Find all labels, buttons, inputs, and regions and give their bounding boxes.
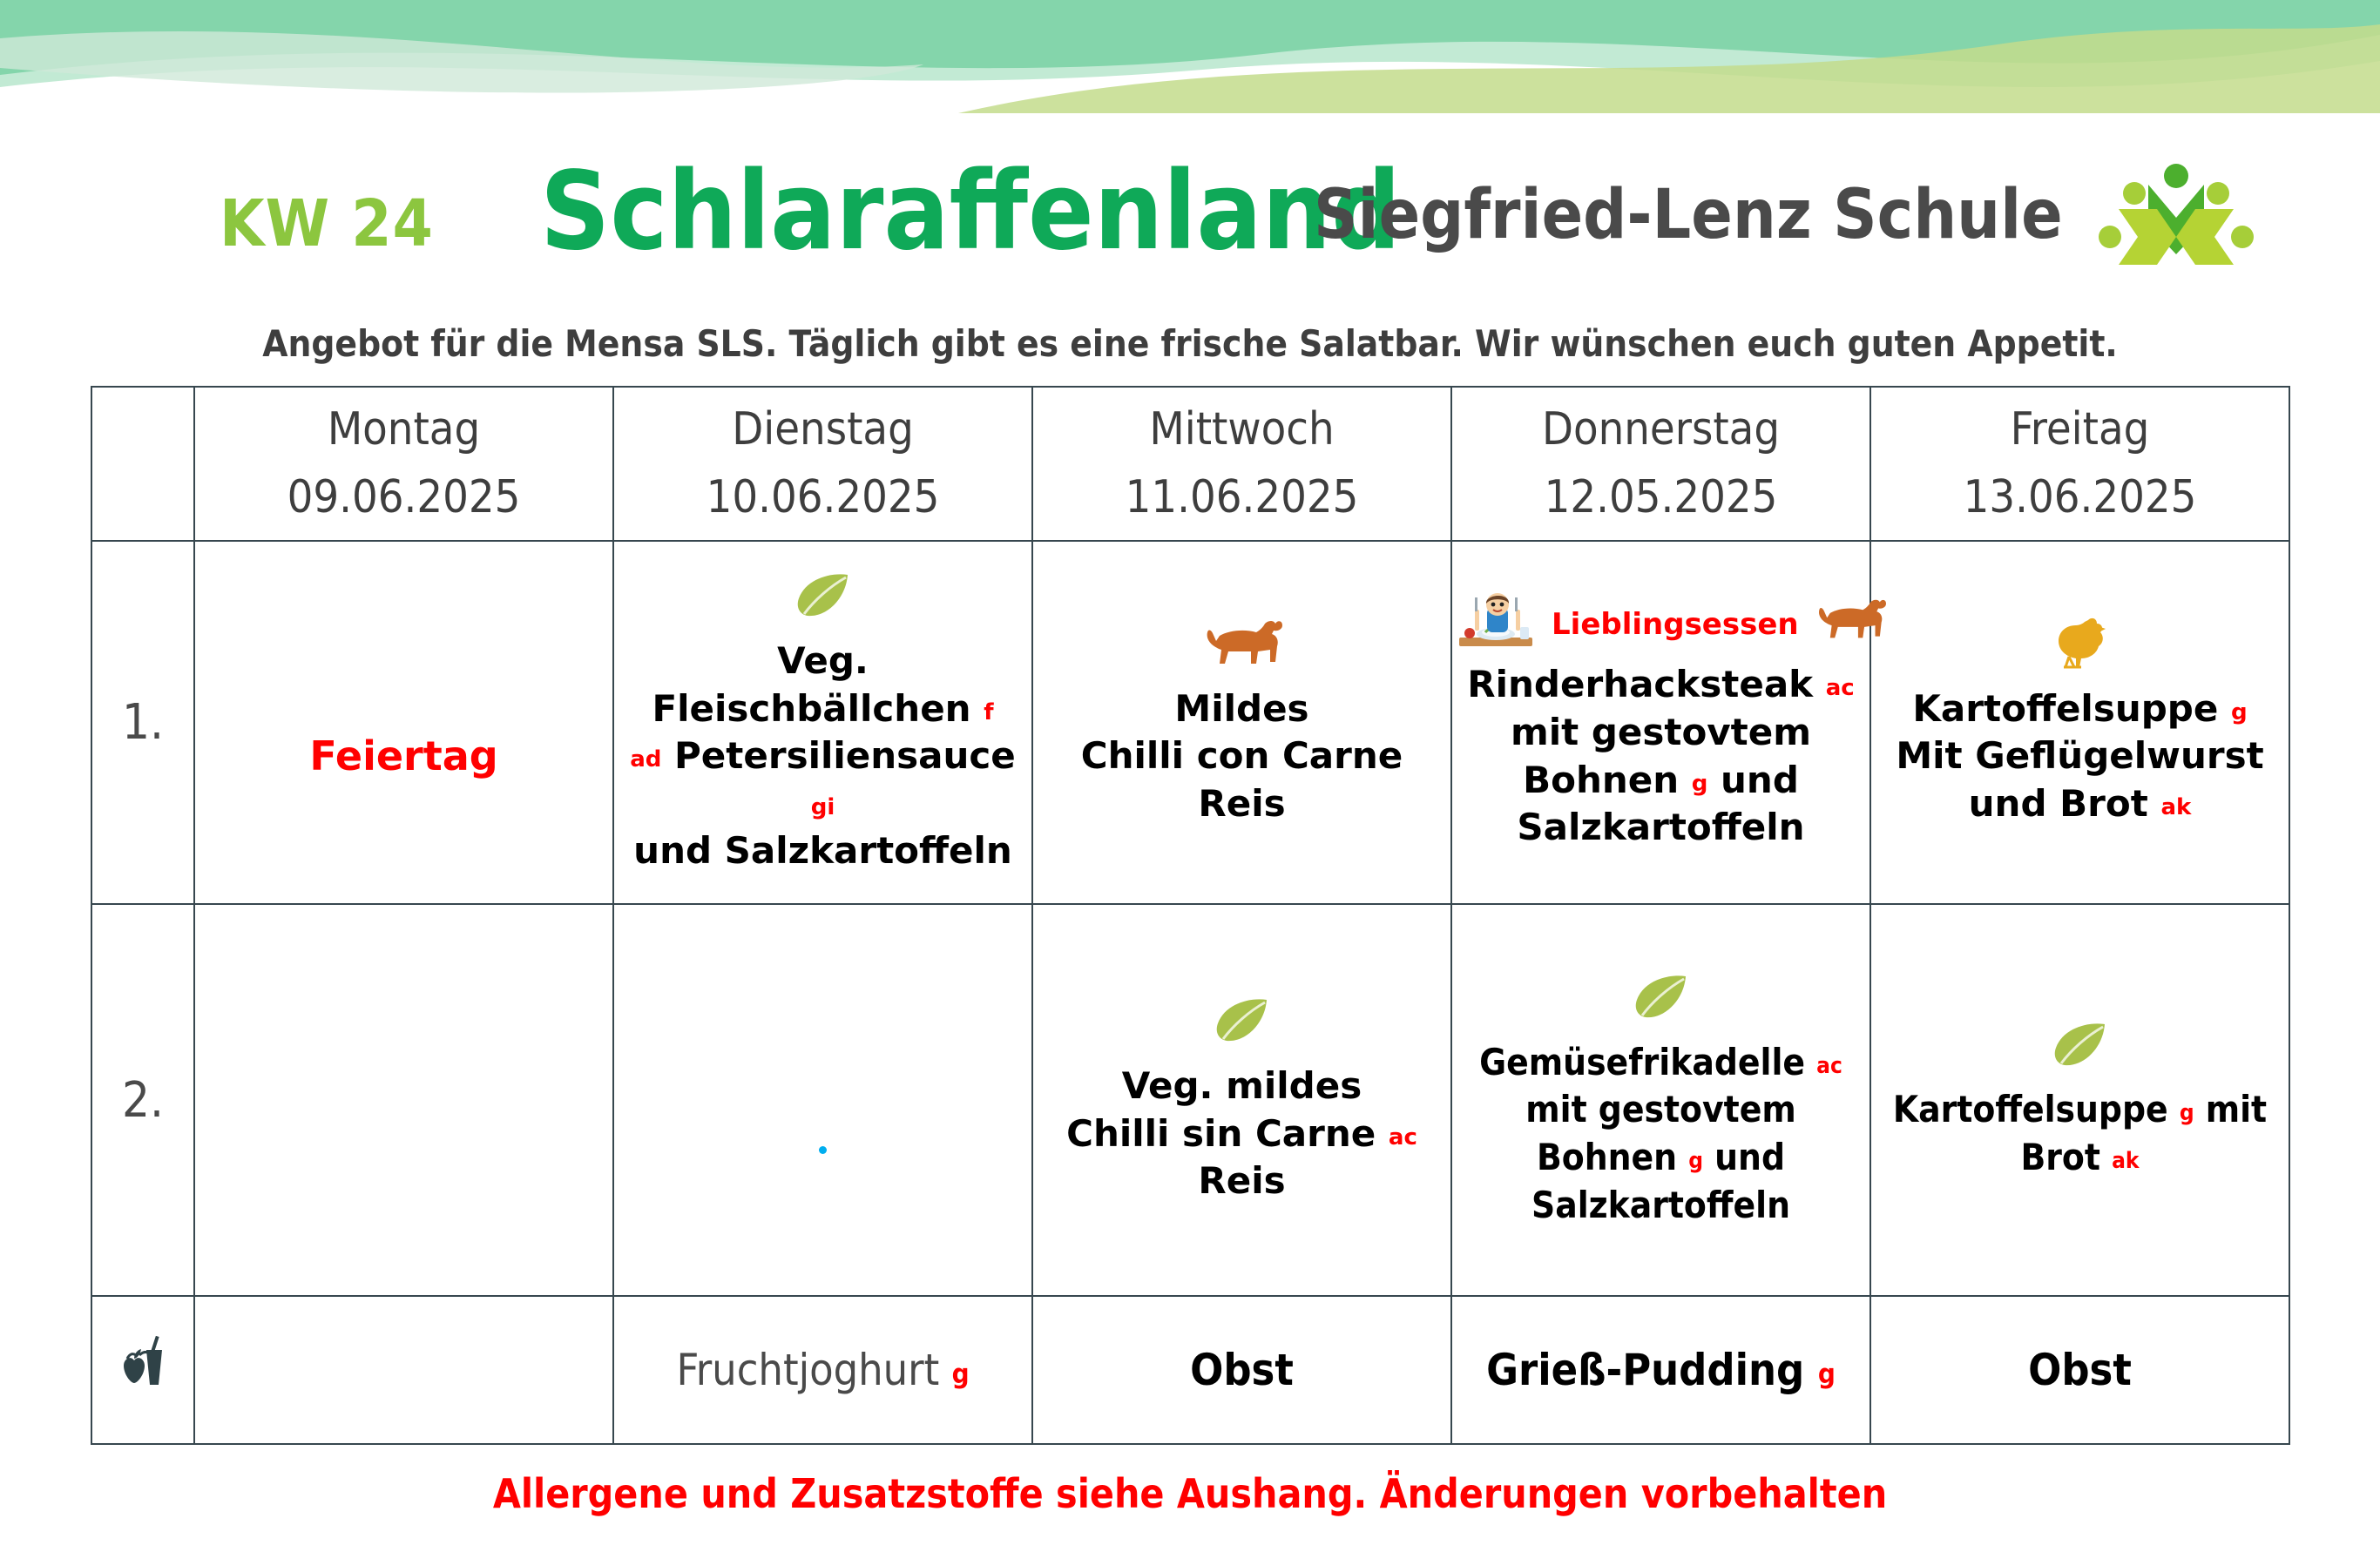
- allergen-code: f: [984, 699, 993, 725]
- dessert-cell-donnerstag: Grieß-Pudding g: [1451, 1296, 1870, 1444]
- meal-line: Gemüsefrikadelle ac: [1452, 1039, 1870, 1087]
- allergen-code: ad: [630, 746, 661, 773]
- table-row: 2. Veg. mildes Chilli sin: [91, 904, 2289, 1296]
- table-header-row: Montag 09.06.2025 Dienstag 10.06.2025 Mi…: [91, 387, 2289, 541]
- allergen-code: ac: [1816, 1053, 1842, 1079]
- decorative-wave-banner: [0, 0, 2380, 113]
- meal-line: und Brot ak: [1871, 780, 2289, 828]
- boy-eating-icon: [1456, 590, 1536, 660]
- dessert-cell-dienstag: Fruchtjoghurt g: [613, 1296, 1032, 1444]
- day-date: 09.06.2025: [195, 470, 612, 525]
- dessert-label: Grieß-Pudding: [1486, 1345, 1818, 1395]
- allergen-code: g: [952, 1359, 970, 1390]
- dessert-cell-freitag: Obst: [1870, 1296, 2289, 1444]
- meal-cell-mittwoch-2: Veg. mildes Chilli sin Carne ac Reis: [1032, 904, 1451, 1296]
- icon-row: [614, 570, 1031, 632]
- meal-line: Kartoffelsuppe g: [1871, 685, 2289, 733]
- meal-cell-donnerstag-1: Lieblingsessen Rinderhacksteak ac mit ge…: [1451, 541, 1870, 904]
- dessert-cell-mittwoch: Obst: [1032, 1296, 1451, 1444]
- icon-row: [1452, 971, 1870, 1034]
- row-label-2: 2.: [91, 904, 194, 1296]
- icon-row: [1033, 995, 1450, 1057]
- meal-text: Gemüsefrikadelle ac mit gestovtem Bohnen…: [1452, 1039, 1870, 1229]
- meal-line: Bohnen g und: [1452, 757, 1870, 805]
- allergen-code: ac: [1389, 1124, 1417, 1151]
- allergen-code: g: [1688, 1148, 1703, 1174]
- table-row: 1. Feiertag: [91, 541, 2289, 904]
- meal-line: Mit Geflügelwurst: [1871, 732, 2289, 780]
- table-row: Fruchtjoghurt g Obst Grieß-Pudding g Obs…: [91, 1296, 2289, 1444]
- day-date: 11.06.2025: [1033, 470, 1450, 525]
- meal-cell-donnerstag-2: Gemüsefrikadelle ac mit gestovtem Bohnen…: [1451, 904, 1870, 1296]
- meal-cell-montag-2: [194, 904, 613, 1296]
- icon-row: Lieblingsessen: [1452, 593, 1870, 656]
- meal-line: Salzkartoffeln: [1452, 804, 1870, 852]
- calendar-week-label: KW 24: [220, 186, 434, 261]
- row-label-dessert: [91, 1296, 194, 1444]
- day-header-donnerstag: Donnerstag 12.05.2025: [1451, 387, 1870, 541]
- footer-note: Allergene und Zusatzstoffe siehe Aushang…: [0, 1470, 2380, 1517]
- meal-line: Bohnen g und: [1452, 1134, 1870, 1182]
- day-date: 10.06.2025: [614, 470, 1031, 525]
- page-header: KW 24 Schlaraffenland Siegfried-Lenz Sch…: [0, 157, 2380, 279]
- day-date: 13.06.2025: [1871, 470, 2289, 525]
- meal-cell-mittwoch-1: Mildes Chilli con Carne Reis: [1032, 541, 1451, 904]
- day-name: Donnerstag: [1452, 402, 1870, 457]
- day-header-mittwoch: Mittwoch 11.06.2025: [1032, 387, 1451, 541]
- chicken-icon: [2053, 617, 2107, 681]
- leaf-icon: [1633, 974, 1689, 1031]
- icon-row: [1871, 617, 2289, 680]
- meal-line: Brot ak: [1871, 1134, 2289, 1182]
- cow-icon: [1202, 618, 1282, 679]
- allergen-code: ak: [2112, 1148, 2139, 1174]
- school-name: Siegfried-Lenz Schule: [1314, 176, 2063, 254]
- meal-cell-dienstag-2: [613, 904, 1032, 1296]
- allergen-code: ac: [1826, 675, 1855, 701]
- day-date: 12.05.2025: [1452, 470, 1870, 525]
- meal-text: Feiertag: [195, 731, 612, 783]
- meal-text: Veg. mildes Chilli sin Carne ac Reis: [1033, 1063, 1450, 1205]
- page-title: Schlaraffenland: [540, 150, 1401, 274]
- three-people-logo-icon: [2089, 157, 2263, 270]
- allergen-code: g: [1692, 771, 1708, 797]
- meal-text: Kartoffelsuppe g mit Brot ak: [1871, 1086, 2289, 1181]
- meal-text: Mildes Chilli con Carne Reis: [1033, 685, 1450, 828]
- meal-cell-freitag-1: Kartoffelsuppe g Mit Geflügelwurst und B…: [1870, 541, 2289, 904]
- day-header-dienstag: Dienstag 10.06.2025: [613, 387, 1032, 541]
- meal-line: Rinderhacksteak ac: [1452, 661, 1870, 709]
- meal-text: Veg. Fleischbällchen f ad Petersiliensau…: [614, 638, 1031, 875]
- meal-line: Chilli sin Carne ac: [1033, 1110, 1450, 1158]
- weekly-menu-table: Montag 09.06.2025 Dienstag 10.06.2025 Mi…: [91, 386, 2290, 1445]
- meal-line: Chilli con Carne: [1033, 732, 1450, 780]
- meal-line: Reis: [1033, 1157, 1450, 1205]
- leaf-icon: [1214, 997, 1270, 1055]
- meal-line: ad Petersiliensauce gi: [614, 732, 1031, 827]
- meal-line: mit gestovtem: [1452, 709, 1870, 757]
- corner-cell: [91, 387, 194, 541]
- meal-line: und Salzkartoffeln: [614, 827, 1031, 875]
- intro-text: Angebot für die Mensa SLS. Täglich gibt …: [0, 322, 2380, 365]
- day-name: Dienstag: [614, 402, 1031, 457]
- row-label-1: 1.: [91, 541, 194, 904]
- leaf-icon: [795, 572, 851, 630]
- day-header-montag: Montag 09.06.2025: [194, 387, 613, 541]
- icon-row: [1871, 1018, 2289, 1081]
- meal-text: Kartoffelsuppe g Mit Geflügelwurst und B…: [1871, 685, 2289, 828]
- icon-row: [195, 663, 612, 725]
- stray-dot-marker: [819, 1146, 827, 1154]
- meal-line: Kartoffelsuppe g mit: [1871, 1086, 2289, 1134]
- allergen-code: g: [1818, 1359, 1836, 1390]
- day-header-freitag: Freitag 13.06.2025: [1870, 387, 2289, 541]
- leaf-icon: [2052, 1022, 2108, 1079]
- day-name: Freitag: [1871, 402, 2289, 457]
- meal-line: Reis: [1033, 780, 1450, 828]
- meal-cell-freitag-2: Kartoffelsuppe g mit Brot ak: [1870, 904, 2289, 1296]
- allergen-code: g: [2180, 1100, 2194, 1126]
- meal-line: Salzkartoffeln: [1452, 1182, 1870, 1230]
- holiday-label: Feiertag: [195, 731, 612, 783]
- allergen-code: g: [2231, 699, 2248, 725]
- meal-text: Rinderhacksteak ac mit gestovtem Bohnen …: [1452, 661, 1870, 851]
- meal-line: Veg. Fleischbällchen f: [614, 638, 1031, 732]
- icon-row: [1033, 617, 1450, 680]
- favorite-meal-badge: Lieblingsessen: [1552, 605, 1799, 644]
- allergen-code: gi: [811, 794, 835, 820]
- day-name: Montag: [195, 402, 612, 457]
- dessert-label: Fruchtjoghurt: [676, 1345, 951, 1395]
- cow-icon: [1815, 597, 1886, 653]
- meal-cell-dienstag-1: Veg. Fleischbällchen f ad Petersiliensau…: [613, 541, 1032, 904]
- allergen-code: ak: [2160, 794, 2191, 820]
- apple-and-drink-icon: [115, 1336, 171, 1404]
- meal-line: Mildes: [1033, 685, 1450, 733]
- meal-line: mit gestovtem: [1452, 1086, 1870, 1134]
- meal-cell-montag-1: Feiertag: [194, 541, 613, 904]
- dessert-cell-montag: [194, 1296, 613, 1444]
- meal-line: Veg. mildes: [1033, 1063, 1450, 1110]
- day-name: Mittwoch: [1033, 402, 1450, 457]
